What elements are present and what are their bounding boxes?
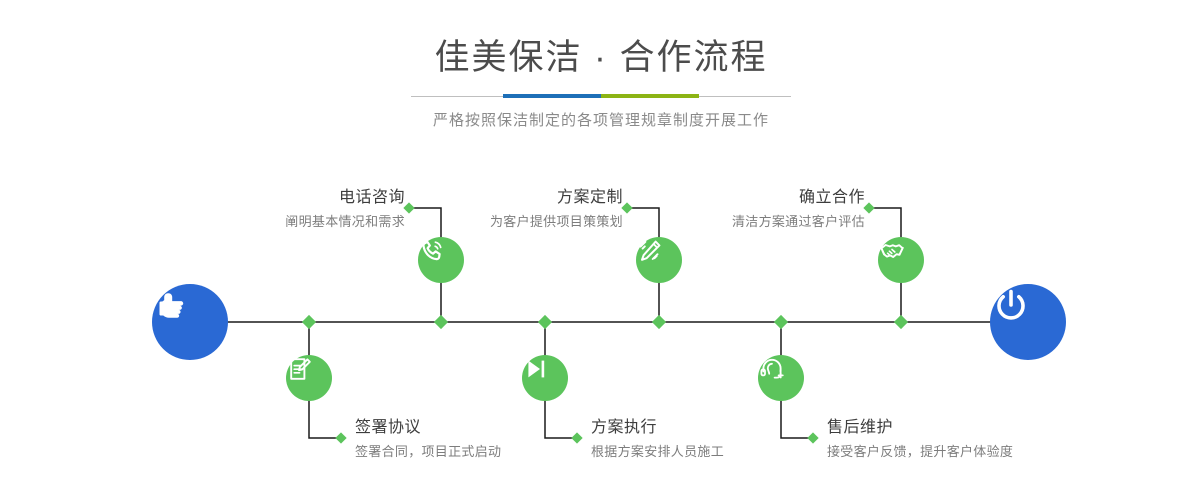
label-step-2: 签署协议 签署合同，项目正式启动 (355, 418, 501, 462)
label-step-1: 电话咨询 阐明基本情况和需求 (285, 188, 405, 232)
flow-start-endpoint[interactable] (152, 284, 228, 360)
phone-call-icon (418, 237, 446, 265)
label-step-5-title: 售后维护 (827, 418, 1013, 438)
label-step-6: 确立合作 清洁方案通过客户评估 (732, 188, 865, 232)
label-step-5: 售后维护 接受客户反馈，提升客户体验度 (827, 418, 1013, 462)
node-step-4[interactable] (522, 355, 568, 401)
label-step-6-desc: 清洁方案通过客户评估 (732, 208, 865, 232)
label-step-5-desc: 接受客户反馈，提升客户体验度 (827, 438, 1013, 462)
flow-end-endpoint[interactable] (990, 284, 1066, 360)
pencil-ruler-icon (636, 237, 664, 265)
node-step-2[interactable] (286, 355, 332, 401)
label-anchor-markers (335, 202, 874, 443)
label-step-2-desc: 签署合同，项目正式启动 (355, 438, 501, 462)
node-step-3[interactable] (636, 237, 682, 283)
node-step-6[interactable] (878, 237, 924, 283)
process-flow: 电话咨询 阐明基本情况和需求 方案定制 为客户提供项目策策划 确立 (0, 0, 1202, 502)
label-step-1-desc: 阐明基本情况和需求 (285, 208, 405, 232)
label-step-3: 方案定制 为客户提供项目策策划 (490, 188, 623, 232)
label-step-2-title: 签署协议 (355, 418, 501, 438)
document-edit-icon (286, 355, 314, 383)
play-execute-icon (522, 355, 550, 383)
label-step-4-title: 方案执行 (591, 418, 724, 438)
power-icon (990, 284, 1032, 326)
label-step-3-desc: 为客户提供项目策策划 (490, 208, 623, 232)
flow-diagram-page: 佳美保洁 · 合作流程 严格按照保洁制定的各项管理规章制度开展工作 (0, 0, 1202, 502)
handshake-icon (878, 237, 906, 265)
pointing-hand-icon (152, 284, 194, 326)
headset-support-icon (758, 355, 786, 383)
node-step-5[interactable] (758, 355, 804, 401)
label-step-1-title: 电话咨询 (285, 188, 405, 208)
label-step-3-title: 方案定制 (490, 188, 623, 208)
label-step-4-desc: 根据方案安排人员施工 (591, 438, 724, 462)
node-step-1[interactable] (418, 237, 464, 283)
label-step-4: 方案执行 根据方案安排人员施工 (591, 418, 724, 462)
label-step-6-title: 确立合作 (732, 188, 865, 208)
